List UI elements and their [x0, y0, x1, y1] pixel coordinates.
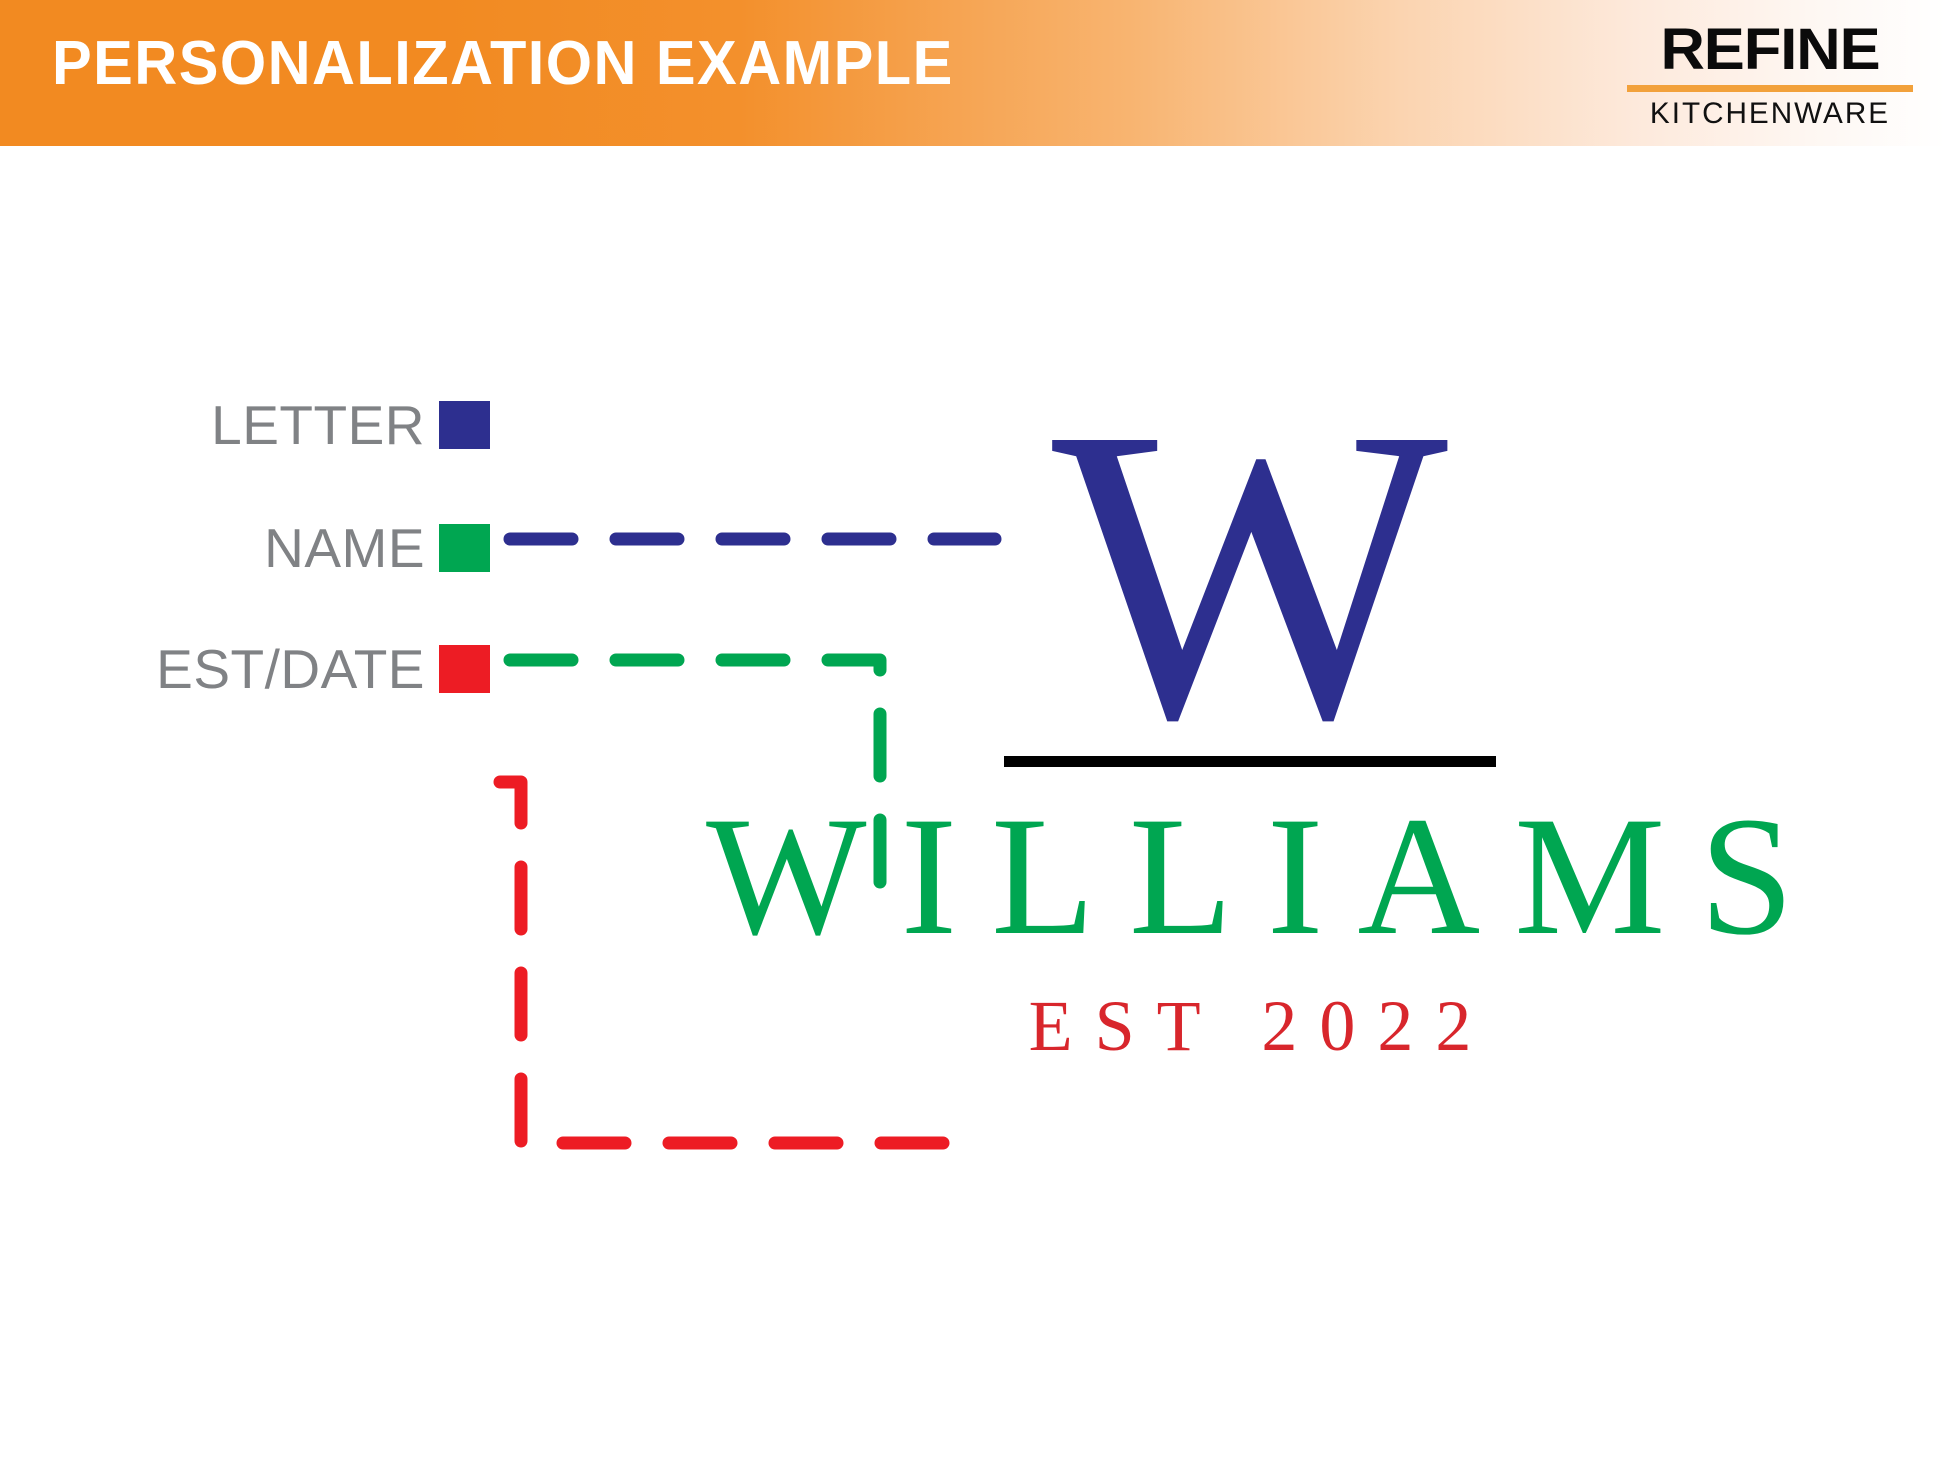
header-bar: PERSONALIZATION EXAMPLE REFINE KITCHENWA…: [0, 0, 1946, 146]
brand-primary-text: REFINE: [1616, 22, 1923, 79]
monogram-name: WILLIAMS: [620, 787, 1880, 966]
legend-item-letter: LETTER: [0, 395, 490, 455]
color-swatch-icon-letter: [439, 401, 490, 449]
monogram-established: EST 2022: [620, 987, 1880, 1066]
legend-label-letter: LETTER: [211, 398, 425, 453]
brand-secondary-text: KITCHENWARE: [1626, 97, 1913, 131]
legend-item-name: NAME: [0, 518, 490, 578]
legend-label-est-date: EST/DATE: [156, 642, 425, 697]
brand-logo: REFINE KITCHENWARE: [1625, 22, 1915, 131]
page-title: PERSONALIZATION EXAMPLE: [52, 28, 954, 99]
brand-divider-rule: [1627, 85, 1913, 92]
monogram-initial: W: [620, 410, 1880, 738]
monogram-artwork: W WILLIAMS EST 2022: [620, 410, 1880, 1066]
color-swatch-icon-name: [439, 524, 490, 572]
legend-label-name: NAME: [264, 521, 425, 576]
legend-item-est-date: EST/DATE: [0, 639, 490, 699]
color-swatch-icon-est-date: [439, 645, 490, 693]
